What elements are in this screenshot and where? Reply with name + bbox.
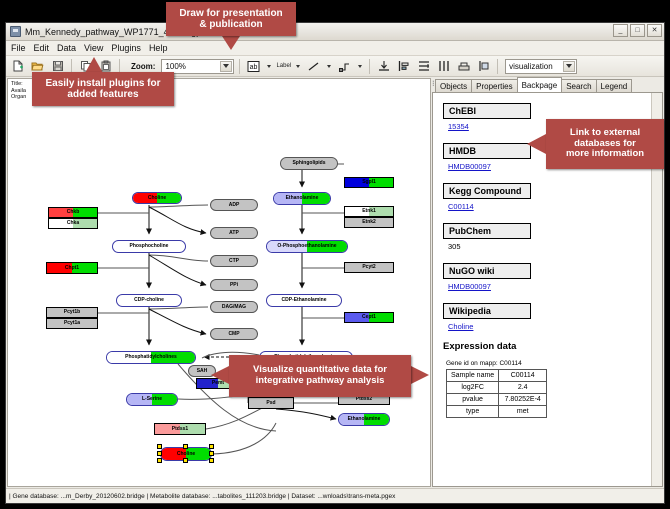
minimize-button[interactable]: _ bbox=[613, 24, 628, 37]
node-label: Chkb bbox=[67, 210, 80, 215]
metabolite-node-o-phosphoethanolamine[interactable]: O-Phosphoethanolamine bbox=[266, 240, 348, 253]
zoom-label: Zoom: bbox=[131, 62, 155, 71]
db-value-pubchem: 305 bbox=[448, 242, 651, 251]
app-icon bbox=[10, 26, 21, 37]
table-row: type met bbox=[447, 406, 547, 418]
node-label: Pcyt1b bbox=[64, 310, 80, 315]
metabolite-node-ethanolamine[interactable]: Ethanolamine bbox=[273, 192, 331, 205]
callout-links-arrow-icon bbox=[527, 134, 546, 154]
visualization-combo[interactable]: visualization bbox=[505, 59, 577, 74]
node-label: Choline bbox=[148, 196, 166, 201]
node-label: Ethanolamine bbox=[348, 417, 381, 422]
node-label: L-Serine bbox=[142, 397, 162, 402]
selection-handle-5[interactable] bbox=[157, 458, 162, 463]
gene-node-etnk2[interactable]: Etnk2 bbox=[344, 217, 394, 228]
node-label: Chka bbox=[67, 221, 79, 226]
node-label: CDP-Ethanolamine bbox=[281, 298, 326, 303]
menu-item-file[interactable]: File bbox=[11, 43, 26, 53]
callout-draw-arrow-icon bbox=[222, 36, 240, 50]
gene-node-pcyt2[interactable]: Pcyt2 bbox=[344, 262, 394, 273]
callout-links-line1: Link to external bbox=[570, 128, 640, 139]
distribute-horizontal-icon[interactable] bbox=[435, 58, 452, 75]
close-button[interactable]: ✕ bbox=[647, 24, 662, 37]
new-file-icon[interactable] bbox=[9, 58, 26, 75]
callout-easily-install-plugins: Easily install plugins for added feature… bbox=[32, 72, 174, 106]
node-label: CDP-choline bbox=[134, 298, 164, 303]
db-header-pubchem: PubChem bbox=[443, 223, 531, 239]
exp-label-type: type bbox=[447, 406, 499, 418]
metabolite-node-ppi[interactable]: PPi bbox=[210, 279, 258, 291]
db-section-pubchem: PubChem 305 bbox=[443, 221, 651, 251]
gene-node-psd[interactable]: Psd bbox=[248, 397, 294, 409]
tab-search[interactable]: Search bbox=[561, 79, 596, 92]
gene-node-chkb[interactable]: Chkb bbox=[48, 207, 98, 218]
toolbar-separator-3 bbox=[239, 59, 240, 74]
line-dropdown-icon[interactable] bbox=[325, 58, 333, 74]
db-link-wikipedia[interactable]: Choline bbox=[448, 322, 651, 331]
callout-draw-line2: & publication bbox=[199, 19, 262, 31]
maximize-button[interactable]: □ bbox=[630, 24, 645, 37]
node-label: Ptdss1 bbox=[172, 427, 188, 432]
metabolite-node-cdp-ethanolamine[interactable]: CDP-Ethanolamine bbox=[266, 294, 342, 307]
toolbar-separator-4 bbox=[369, 59, 370, 74]
metabolite-node-choline[interactable]: Choline bbox=[132, 192, 182, 204]
callout-plugins-arrow-icon bbox=[85, 57, 103, 73]
db-section-wikipedia: Wikipedia Choline bbox=[443, 301, 651, 331]
text-label-dropdown-icon[interactable] bbox=[265, 58, 273, 74]
node-label: Phosphatidylcholines bbox=[125, 355, 177, 360]
db-header-nugo: NuGO wiki bbox=[443, 263, 531, 279]
metabolite-node-l-serine-left[interactable]: L-Serine bbox=[126, 393, 178, 406]
line-tool-icon[interactable] bbox=[305, 58, 322, 75]
toolbar-separator-5 bbox=[497, 59, 498, 74]
expression-table: Sample name C00114 log2FC 2.4 pvalue 7.8… bbox=[446, 369, 547, 418]
selection-handle-3[interactable] bbox=[157, 451, 162, 456]
node-label: Etnk1 bbox=[362, 209, 376, 214]
chevron-down-icon[interactable] bbox=[220, 61, 232, 72]
table-row: Sample name C00114 bbox=[447, 370, 547, 382]
callout-plugins-line2: added features bbox=[67, 89, 138, 101]
align-left-icon[interactable] bbox=[395, 58, 412, 75]
gene-node-chka[interactable]: Chka bbox=[48, 218, 98, 229]
node-label: Ethanolamine bbox=[286, 196, 319, 201]
exp-label-log2fc: log2FC bbox=[447, 382, 499, 394]
callout-visualize-arrow-right-icon bbox=[411, 366, 429, 384]
menu-item-view[interactable]: View bbox=[84, 43, 103, 53]
node-label: Cept1 bbox=[362, 315, 376, 320]
window-controls: _ □ ✕ bbox=[613, 24, 662, 37]
menu-item-plugins[interactable]: Plugins bbox=[111, 43, 141, 53]
callout-links-line3: more information bbox=[566, 149, 644, 160]
db-header-hmdb: HMDB bbox=[443, 143, 531, 159]
db-link-nugo[interactable]: HMDB00097 bbox=[448, 282, 651, 291]
callout-link-to-external-databases: Link to external databases for more info… bbox=[546, 119, 664, 169]
node-label: Etnk2 bbox=[362, 220, 376, 225]
node-label: Psd bbox=[266, 401, 275, 406]
table-row: log2FC 2.4 bbox=[447, 382, 547, 394]
metabolite-node-adp[interactable]: ADP bbox=[210, 199, 258, 211]
exp-label-pvalue: pvalue bbox=[447, 394, 499, 406]
visualization-value: visualization bbox=[509, 62, 553, 71]
selection-handle-4[interactable] bbox=[209, 451, 214, 456]
gene-id-line: Gene id on mapp: C00114 bbox=[446, 360, 651, 367]
expression-data-title: Expression data bbox=[443, 341, 651, 352]
metabolite-node-ctp[interactable]: CTP bbox=[210, 255, 258, 267]
menu-item-data[interactable]: Data bbox=[57, 43, 76, 53]
svg-text:ab: ab bbox=[250, 64, 258, 71]
metabolite-node-phosphatidylcholines[interactable]: Phosphatidylcholines bbox=[106, 351, 196, 364]
node-label: ATP bbox=[229, 231, 239, 236]
exp-value-sample: C00114 bbox=[499, 370, 547, 382]
node-label: Pcyt1a bbox=[64, 321, 80, 326]
db-section-nugo: NuGO wiki HMDB00097 bbox=[443, 261, 651, 291]
db-header-wikipedia: Wikipedia bbox=[443, 303, 531, 319]
selection-handle-7[interactable] bbox=[209, 458, 214, 463]
node-label: SAH bbox=[197, 369, 208, 374]
menu-item-edit[interactable]: Edit bbox=[34, 43, 50, 53]
db-link-kegg[interactable]: C00114 bbox=[448, 202, 651, 211]
node-label: O-Phosphoethanolamine bbox=[277, 244, 336, 249]
table-row: pvalue 7.80252E-4 bbox=[447, 394, 547, 406]
metabolite-node-atp[interactable]: ATP bbox=[210, 227, 258, 239]
menu-bar: File Edit Data View Plugins Help bbox=[6, 41, 664, 56]
node-label: CMP bbox=[228, 332, 239, 337]
exp-value-pvalue: 7.80252E-4 bbox=[499, 394, 547, 406]
connector-dropdown-icon[interactable] bbox=[356, 58, 364, 74]
tab-objects[interactable]: Objects bbox=[435, 79, 472, 92]
text-label-icon[interactable]: ab bbox=[245, 58, 262, 75]
gene-node-sgpl1[interactable]: Sgpl1 bbox=[344, 177, 394, 188]
callout-draw-line1: Draw for presentation bbox=[179, 8, 282, 20]
selection-handle-2[interactable] bbox=[209, 444, 214, 449]
node-label: Chpt1 bbox=[65, 266, 79, 271]
gene-node-pcyt1b[interactable]: Pcyt1b bbox=[46, 307, 98, 318]
gene-node-ptdss1[interactable]: Ptdss1 bbox=[154, 423, 206, 435]
node-label: Pcyt2 bbox=[362, 265, 375, 270]
node-label: CTP bbox=[229, 259, 239, 264]
status-bar-text: | Gene database: ...m_Derby_20120602.bri… bbox=[9, 493, 395, 500]
exp-value-type: met bbox=[499, 406, 547, 418]
node-label: Sphingolipids bbox=[292, 161, 325, 166]
selection-handle-0[interactable] bbox=[157, 444, 162, 449]
gene-node-pcyt1a[interactable]: Pcyt1a bbox=[46, 318, 98, 329]
selection-handle-1[interactable] bbox=[183, 444, 188, 449]
callout-visualize-quantitative-data: Visualize quantitative data for integrat… bbox=[229, 355, 411, 397]
exp-label-sample: Sample name bbox=[447, 370, 499, 382]
group-icon[interactable] bbox=[455, 58, 472, 75]
label-tool-label: Label bbox=[276, 63, 291, 69]
node-label: Sgpl1 bbox=[362, 180, 376, 185]
metabolite-node-cdp-choline[interactable]: CDP-choline bbox=[116, 294, 182, 307]
selection-handle-6[interactable] bbox=[183, 458, 188, 463]
tab-properties[interactable]: Properties bbox=[471, 79, 517, 92]
metabolite-node-phosphocholine[interactable]: Phosphocholine bbox=[112, 240, 186, 253]
tab-backpage[interactable]: Backpage bbox=[517, 77, 563, 92]
metabolite-node-ethanolamine-2[interactable]: Ethanolamine bbox=[338, 413, 390, 426]
metabolite-node-cmp[interactable]: CMP bbox=[210, 328, 258, 340]
node-label: Choline bbox=[177, 452, 195, 457]
gene-node-cept1[interactable]: Cept1 bbox=[344, 312, 394, 323]
gene-node-etnk1[interactable]: Etnk1 bbox=[344, 206, 394, 217]
db-section-kegg: Kegg Compound C00114 bbox=[443, 181, 651, 211]
visualization-chevron-down-icon[interactable] bbox=[563, 61, 575, 72]
zoom-value: 100% bbox=[165, 62, 185, 71]
metabolite-node-dagmag[interactable]: DAG/MAG bbox=[210, 301, 258, 313]
align-bottom-icon[interactable] bbox=[375, 58, 392, 75]
order-icon[interactable] bbox=[475, 58, 492, 75]
tab-legend[interactable]: Legend bbox=[596, 79, 633, 92]
db-header-kegg: Kegg Compound bbox=[443, 183, 531, 199]
callout-plugins-line1: Easily install plugins for bbox=[45, 78, 160, 90]
status-bar: | Gene database: ...m_Derby_20120602.bri… bbox=[6, 488, 664, 503]
connector-tool-icon[interactable] bbox=[336, 58, 353, 75]
node-label: Ptdss2 bbox=[356, 397, 372, 402]
callout-visualize-line2: integrative pathway analysis bbox=[256, 376, 385, 387]
gene-node-chpt1[interactable]: Chpt1 bbox=[46, 262, 98, 274]
node-label: ADP bbox=[229, 203, 240, 208]
menu-item-help[interactable]: Help bbox=[149, 43, 168, 53]
exp-value-log2fc: 2.4 bbox=[499, 382, 547, 394]
callout-visualize-arrow-left-icon bbox=[211, 366, 229, 384]
side-panel-tabs: Objects Properties Backpage Search Legen… bbox=[432, 78, 663, 93]
node-label: PPi bbox=[230, 283, 238, 288]
db-header-chebi: ChEBI bbox=[443, 103, 531, 119]
node-label: DAG/MAG bbox=[222, 305, 246, 310]
metabolite-node-sphingolipids[interactable]: Sphingolipids bbox=[280, 157, 338, 170]
node-label: Phosphocholine bbox=[130, 244, 169, 249]
distribute-vertical-icon[interactable] bbox=[415, 58, 432, 75]
title-bar: Mm_Kennedy_pathway_WP1771_45176.gpml _ □… bbox=[6, 23, 664, 41]
callout-draw-for-presentation: Draw for presentation & publication bbox=[166, 2, 296, 36]
pathway-canvas[interactable]: Title: Availa Organ bbox=[7, 78, 431, 487]
label-dropdown-icon[interactable] bbox=[294, 58, 302, 74]
